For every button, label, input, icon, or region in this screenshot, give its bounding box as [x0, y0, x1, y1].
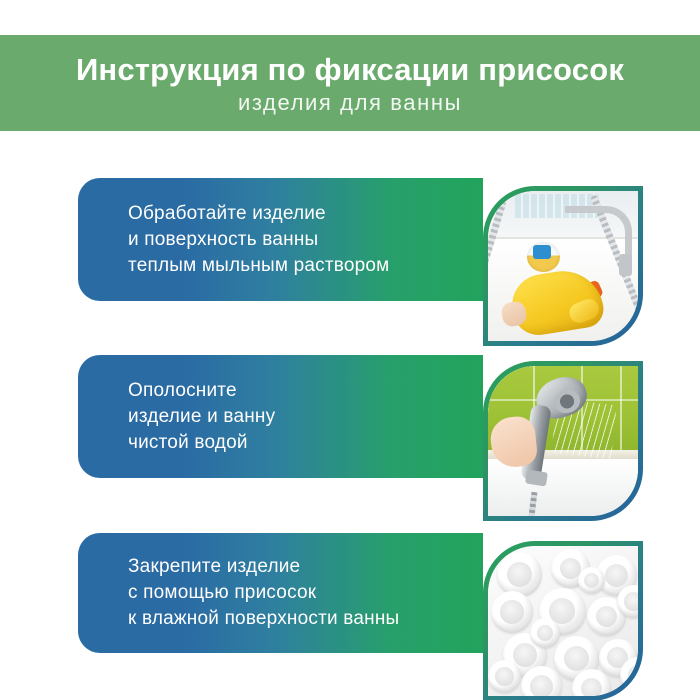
- suction-cup-shape: [491, 591, 533, 633]
- suction-cup-shape: [572, 669, 611, 696]
- step-text: Ополосните изделие и ванну чистой водой: [78, 378, 275, 456]
- suction-cup-shape: [497, 552, 542, 597]
- step-text: Обработайте изделие и поверхность ванны …: [78, 201, 389, 279]
- step-photo-frame: [483, 541, 643, 700]
- page-title: Инструкция по фиксации присосок: [76, 54, 624, 87]
- step-text-bar: Обработайте изделие и поверхность ванны …: [78, 178, 483, 301]
- step-item: Ополосните изделие и ванну чистой водой: [0, 355, 700, 530]
- gloved-hand-cleaning-bathtub-photo: [488, 191, 638, 341]
- step-photo-frame: [483, 186, 643, 346]
- suction-cup-shape: [488, 660, 521, 693]
- step-text-bar: Закрепите изделие с помощью присосок к в…: [78, 533, 483, 653]
- suction-cup-shape: [521, 666, 562, 696]
- step-photo-frame: [483, 361, 643, 521]
- page-subtitle: изделия для ванны: [238, 92, 462, 114]
- suction-cups-mat-photo: [488, 546, 638, 696]
- step-text: Закрепите изделие с помощью присосок к в…: [78, 554, 399, 632]
- top-white-margin: [0, 0, 700, 35]
- header-banner: Инструкция по фиксации присосок изделия …: [0, 35, 700, 133]
- suction-cup-shape: [530, 618, 560, 648]
- step-item: Обработайте изделие и поверхность ванны …: [0, 178, 700, 353]
- hand-holding-shower-head-photo: [488, 366, 638, 516]
- step-item: Закрепите изделие с помощью присосок к в…: [0, 533, 700, 700]
- infographic-page: Инструкция по фиксации присосок изделия …: [0, 0, 700, 700]
- step-text-bar: Ополосните изделие и ванну чистой водой: [78, 355, 483, 478]
- steps-list: Обработайте изделие и поверхность ванны …: [0, 133, 700, 700]
- suction-cup-shape: [578, 567, 605, 594]
